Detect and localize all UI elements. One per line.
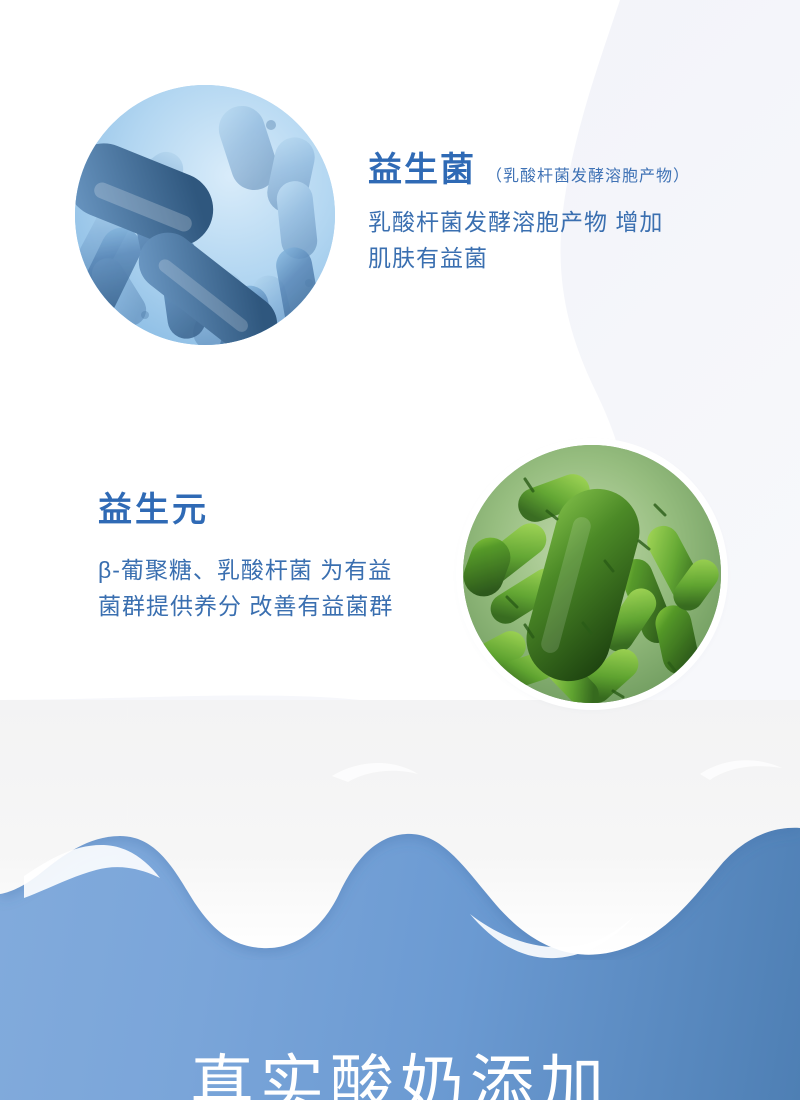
prebiotic-heading: 益生元 (98, 492, 209, 529)
probiotic-heading: 益生菌 (368, 152, 476, 189)
probiotic-body: 乳酸杆菌发酵溶胞产物 增加 肌肤有益菌 (368, 205, 690, 276)
milk-wave-shape (0, 700, 800, 960)
promo-page: 益生菌 （乳酸杆菌发酵溶胞产物） 乳酸杆菌发酵溶胞产物 增加 肌肤有益菌 益生元… (0, 0, 800, 1100)
probiotic-text-block: 益生菌 （乳酸杆菌发酵溶胞产物） 乳酸杆菌发酵溶胞产物 增加 肌肤有益菌 (368, 152, 690, 277)
green-bacteria-photo (463, 445, 721, 703)
milk-drip-wave (0, 700, 800, 960)
probiotic-heading-note: （乳酸杆菌发酵溶胞产物） (486, 162, 690, 186)
prebiotic-text-block: 益生元 β-葡聚糖、乳酸杆菌 为有益 菌群提供养分 改善有益菌群 (98, 492, 393, 625)
probiotic-heading-row: 益生菌 （乳酸杆菌发酵溶胞产物） (368, 152, 690, 189)
blue-bacteria-photo (75, 85, 335, 345)
prebiotic-body: β-葡聚糖、乳酸杆菌 为有益 菌群提供养分 改善有益菌群 (98, 553, 393, 624)
blue-bacteria-art (75, 85, 335, 345)
prebiotic-heading-row: 益生元 (98, 492, 393, 529)
bottom-headline: 真实酸奶添加 (0, 1052, 800, 1100)
green-bacteria-art (463, 445, 721, 703)
